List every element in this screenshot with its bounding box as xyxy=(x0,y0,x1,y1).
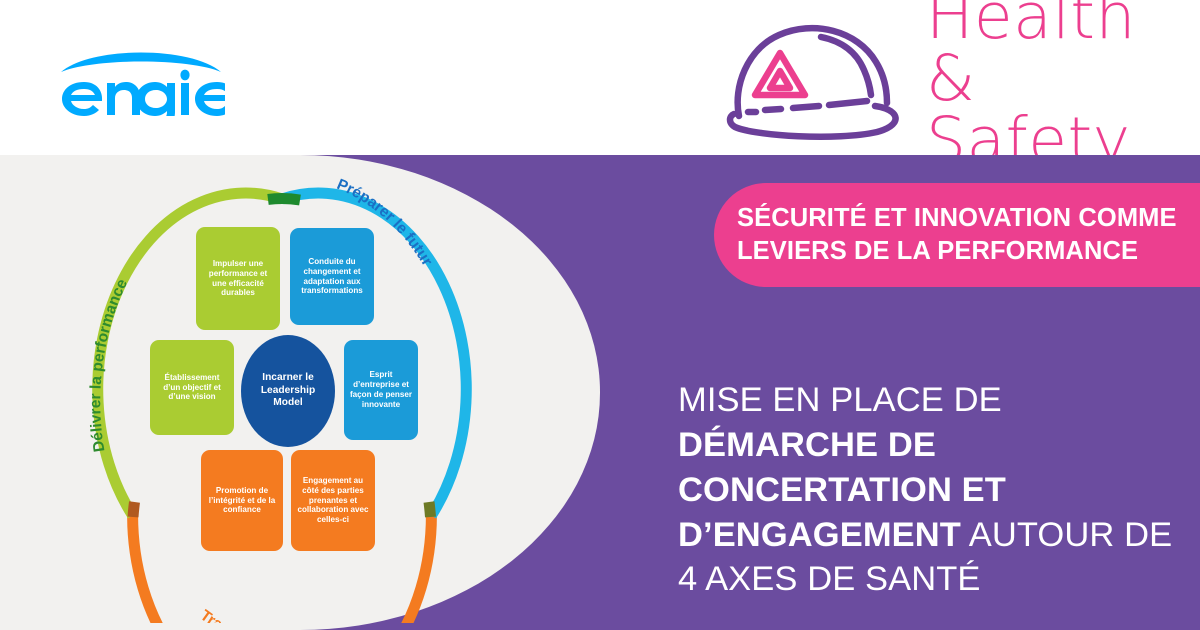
slide-canvas: Health & Safety xyxy=(0,0,1200,630)
banner-title-line2: LEVIERS DE LA PERFORMANCE xyxy=(737,237,1138,265)
main-statement-part-2: DÉMARCHE DE CONCERTATION ET D’ENGAGEMENT xyxy=(678,426,1006,554)
pink-banner-text: SÉCURITÉ ET INNOVATION COMME LEVIERS DE … xyxy=(714,202,1183,267)
health-line: Health xyxy=(926,0,1187,48)
engie-logo xyxy=(57,44,225,116)
svg-text:Délivrer la performance: Délivrer la performance xyxy=(87,276,131,453)
diagram-box-promotion[interactable]: Promotion de l’intégrité et de la confia… xyxy=(201,450,283,551)
main-statement-part-1: MISE EN PLACE DE xyxy=(678,381,1002,419)
svg-text:Travailler ensemble: Travailler ensemble xyxy=(197,607,337,623)
safety-helmet-icon xyxy=(717,15,912,143)
health-safety-text: Health & Safety xyxy=(926,0,1187,172)
diagram-center-leadership-model[interactable]: Incarner le Leadership Model xyxy=(241,335,335,447)
banner-title-line1: SÉCURITÉ ET INNOVATION COMME xyxy=(737,204,1177,232)
diagram-box-etablissement[interactable]: Établissement d’un objectif et d’une vis… xyxy=(150,340,234,435)
health-safety-lockup: Health & Safety xyxy=(717,14,1187,144)
diagram-box-impulser[interactable]: Impulser une performance et une efficaci… xyxy=(196,227,280,330)
header-bar: Health & Safety xyxy=(0,0,1200,155)
main-statement: MISE EN PLACE DE DÉMARCHE DE CONCERTATIO… xyxy=(678,378,1178,602)
diagram-box-esprit[interactable]: Esprit d’entreprise et façon de penser i… xyxy=(344,340,418,440)
safety-line: & Safety xyxy=(926,48,1187,171)
pink-title-banner: SÉCURITÉ ET INNOVATION COMME LEVIERS DE … xyxy=(714,183,1200,287)
diagram-box-engagement[interactable]: Engagement au côté des parties prenantes… xyxy=(291,450,375,551)
diagram-box-conduite[interactable]: Conduite du changement et adaptation aux… xyxy=(290,228,374,325)
